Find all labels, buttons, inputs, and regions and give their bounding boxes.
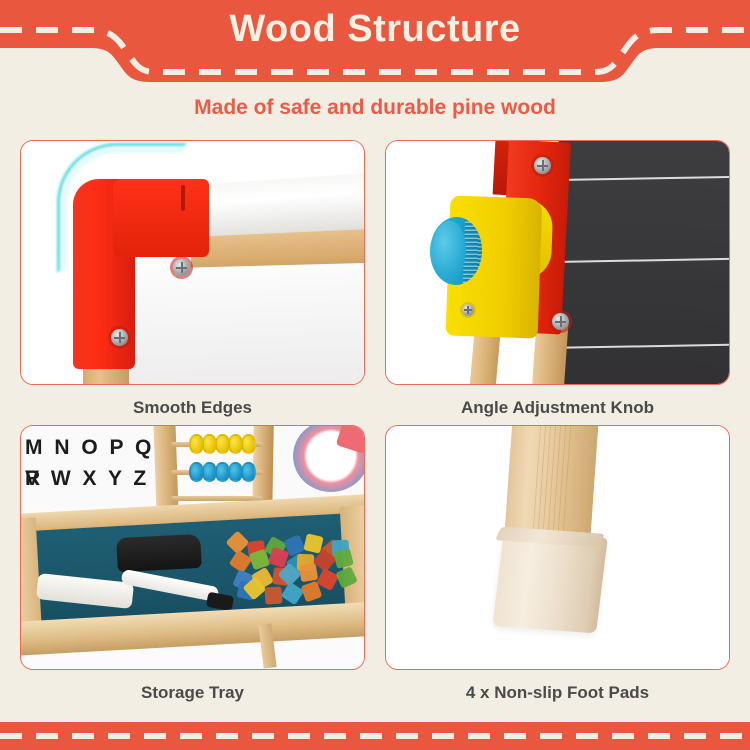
magnetic-letter xyxy=(264,586,282,604)
feature-cell-storage-tray: M N O P Q R V W X Y Z xyxy=(20,425,365,703)
footer-bar xyxy=(0,722,750,750)
eraser xyxy=(116,534,202,572)
caption-non-slip-foot-pads: 4 x Non-slip Foot Pads xyxy=(385,683,730,703)
screw-icon xyxy=(462,304,474,316)
photo-storage-tray: M N O P Q R V W X Y Z xyxy=(21,426,364,669)
caption-smooth-edges: Smooth Edges xyxy=(20,398,365,418)
caption-angle-adjustment-knob: Angle Adjustment Knob xyxy=(385,398,730,418)
screw-icon xyxy=(534,157,551,174)
page-title: Wood Structure xyxy=(0,8,750,51)
footer-dashed-line xyxy=(0,733,750,739)
photo-foot-pad xyxy=(386,426,729,669)
alphabet-row-2: V W X Y Z xyxy=(25,463,160,494)
feature-cell-smooth-edges: Smooth Edges xyxy=(20,140,365,418)
panel-storage-tray: M N O P Q R V W X Y Z xyxy=(20,425,365,670)
page-subtitle: Made of safe and durable pine wood xyxy=(0,96,750,120)
screw-icon xyxy=(173,259,190,276)
feature-panel-grid: Smooth Edges xyxy=(20,140,730,710)
photo-angle-knob xyxy=(386,141,729,384)
panel-non-slip-foot-pads xyxy=(385,425,730,670)
chalkboard-surface xyxy=(549,141,729,384)
header-banner: Wood Structure xyxy=(0,0,750,92)
photo-smooth-edges xyxy=(21,141,364,384)
screw-icon xyxy=(111,329,128,346)
panel-smooth-edges xyxy=(20,140,365,385)
blue-adjustment-knob[interactable] xyxy=(429,216,483,286)
screw-icon xyxy=(552,313,569,330)
abacus-bead xyxy=(241,434,256,454)
magnetic-letter xyxy=(299,563,318,582)
abacus-bead xyxy=(241,462,256,482)
panel-angle-adjustment-knob xyxy=(385,140,730,385)
feature-cell-foot-pads: 4 x Non-slip Foot Pads xyxy=(385,425,730,703)
caption-storage-tray: Storage Tray xyxy=(20,683,365,703)
feature-cell-angle-knob: Angle Adjustment Knob xyxy=(385,140,730,418)
